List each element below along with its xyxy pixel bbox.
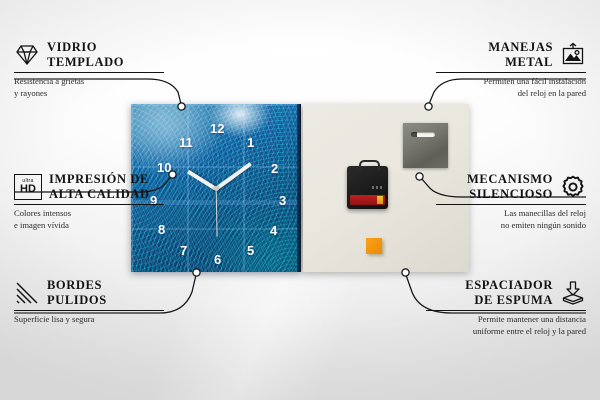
ultra-hd-icon: ultra HD [14, 174, 42, 200]
callout-title: VIDRIO TEMPLADO [47, 40, 124, 69]
callout-head: MECANISMO SILENCIOSO [436, 172, 586, 201]
callout-head: ESPACIADOR DE ESPUMA [426, 278, 586, 307]
callout-subtitle: Las manecillas del reloj no emiten ningú… [436, 208, 586, 231]
product-image: 12 1 2 3 4 5 6 7 8 9 10 11 [131, 104, 469, 272]
callout-subtitle: Permite mantener una distancia uniforme … [426, 314, 586, 337]
callout-rule [436, 72, 586, 73]
infographic-canvas: 12 1 2 3 4 5 6 7 8 9 10 11 [0, 0, 600, 400]
clock-numeral-6: 6 [214, 253, 221, 266]
callout-impresion-alta-calidad[interactable]: ultra HD IMPRESIÓN DE ALTA CALIDAD Color… [14, 172, 164, 231]
clock-numeral-3: 3 [279, 194, 286, 207]
clock-mechanism-box [347, 166, 388, 209]
clock-right-edge [297, 104, 301, 272]
callout-head: ultra HD IMPRESIÓN DE ALTA CALIDAD [14, 172, 164, 201]
clock-numeral-5: 5 [247, 244, 254, 257]
gear-icon [560, 174, 586, 200]
clock-numeral-2: 2 [271, 162, 278, 175]
clock-numeral-7: 7 [180, 244, 187, 257]
callout-bordes-pulidos[interactable]: BORDES PULIDOS Superficie lisa y segura [14, 278, 164, 326]
clock-numeral-11: 11 [179, 136, 193, 149]
hanger-slot [411, 132, 435, 137]
callout-rule [14, 72, 164, 73]
callout-subtitle: Superficie lisa y segura [14, 314, 164, 325]
callout-title: BORDES PULIDOS [47, 278, 107, 307]
callout-mecanismo-silencioso[interactable]: MECANISMO SILENCIOSO Las manecillas del … [436, 172, 586, 231]
diamond-icon [14, 42, 40, 68]
ultra-hd-icon-bottom: HD [20, 184, 36, 195]
callout-title: MANEJAS METAL [488, 40, 553, 69]
metal-hanger-plate [403, 123, 448, 168]
callout-title: ESPACIADOR DE ESPUMA [465, 278, 553, 307]
clock-center-pin [214, 186, 219, 191]
polished-edge-icon [14, 280, 40, 306]
callout-manejas-metal[interactable]: MANEJAS METAL Permiten una fácil instala… [436, 40, 586, 99]
callout-subtitle: Permiten una fácil instalación del reloj… [436, 76, 586, 99]
callout-rule [426, 310, 586, 311]
mechanism-label [372, 186, 384, 189]
callout-rule [436, 204, 586, 205]
mechanism-hanging-loop [359, 160, 380, 171]
callout-vidrio-templado[interactable]: VIDRIO TEMPLADO Resistencia a grietas y … [14, 40, 164, 99]
callout-rule [14, 310, 164, 311]
battery [350, 195, 385, 205]
foam-spacer-icon [560, 280, 586, 306]
callout-title: MECANISMO SILENCIOSO [467, 172, 553, 201]
callout-head: MANEJAS METAL [436, 40, 586, 69]
callout-subtitle: Resistencia a grietas y rayones [14, 76, 164, 99]
callout-espaciador-espuma[interactable]: ESPACIADOR DE ESPUMA Permite mantener un… [426, 278, 586, 337]
foam-spacer-pad [366, 238, 382, 254]
callout-head: VIDRIO TEMPLADO [14, 40, 164, 69]
clock-numeral-4: 4 [270, 224, 277, 237]
callout-title: IMPRESIÓN DE ALTA CALIDAD [49, 172, 150, 201]
callout-rule [14, 204, 164, 205]
clock-numeral-12: 12 [210, 122, 224, 135]
clock-numeral-1: 1 [247, 136, 254, 149]
picture-hanger-icon [560, 42, 586, 68]
callout-subtitle: Colores intensos e imagen vívida [14, 208, 164, 231]
callout-head: BORDES PULIDOS [14, 278, 164, 307]
